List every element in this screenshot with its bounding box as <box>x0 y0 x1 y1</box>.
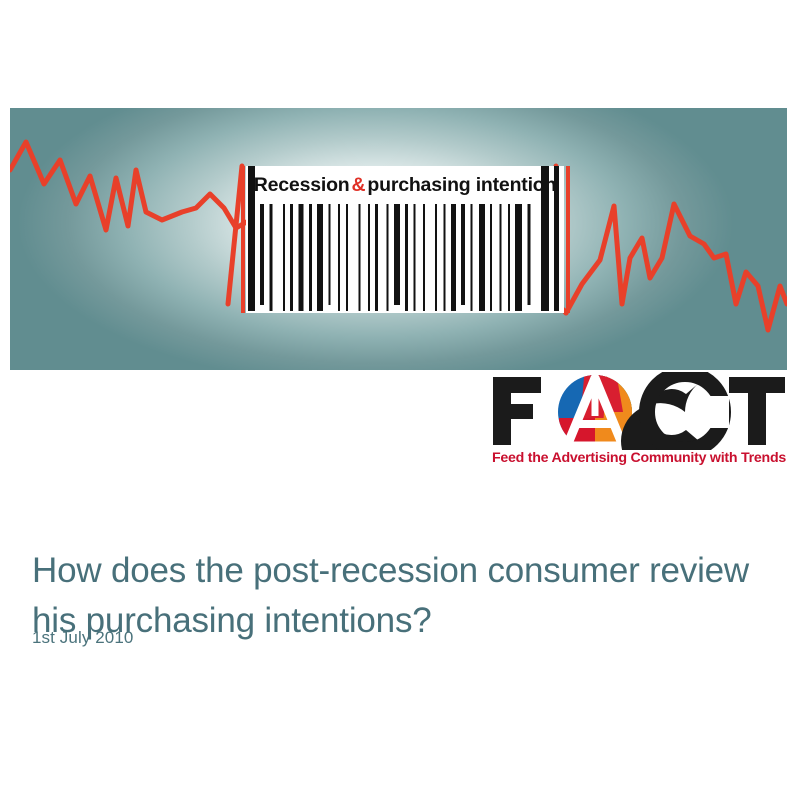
logo-letter-f <box>493 377 541 445</box>
barcode-left-rail <box>241 166 245 313</box>
slide-canvas: Recession & purchasing intention <box>0 0 800 800</box>
barcode-graphic: Recession & purchasing intention <box>246 166 564 313</box>
trend-line-right <box>566 204 787 330</box>
barcode-right-rail <box>566 166 570 313</box>
barcode-caption-suffix: purchasing intention <box>367 174 556 197</box>
slide-headline: How does the post-recession consumer rev… <box>32 546 762 645</box>
fact-logo-mark <box>489 372 789 450</box>
fact-wordmark-svg <box>489 372 789 450</box>
logo-letter-c <box>621 374 729 450</box>
recession-banner: Recession & purchasing intention <box>10 108 787 370</box>
fact-logo-tagline: Feed the Advertising Community with Tren… <box>489 450 789 466</box>
barcode-caption: Recession & purchasing intention <box>246 166 564 204</box>
barcode-caption-ampersand: & <box>350 174 368 197</box>
slide-date: 1st July 2010 <box>32 628 133 648</box>
trend-line-left <box>10 142 272 246</box>
logo-letter-t <box>729 377 785 445</box>
trend-line-riser-left <box>228 166 242 304</box>
fact-logo: Feed the Advertising Community with Tren… <box>489 372 789 476</box>
barcode-caption-prefix: Recession <box>254 174 350 197</box>
